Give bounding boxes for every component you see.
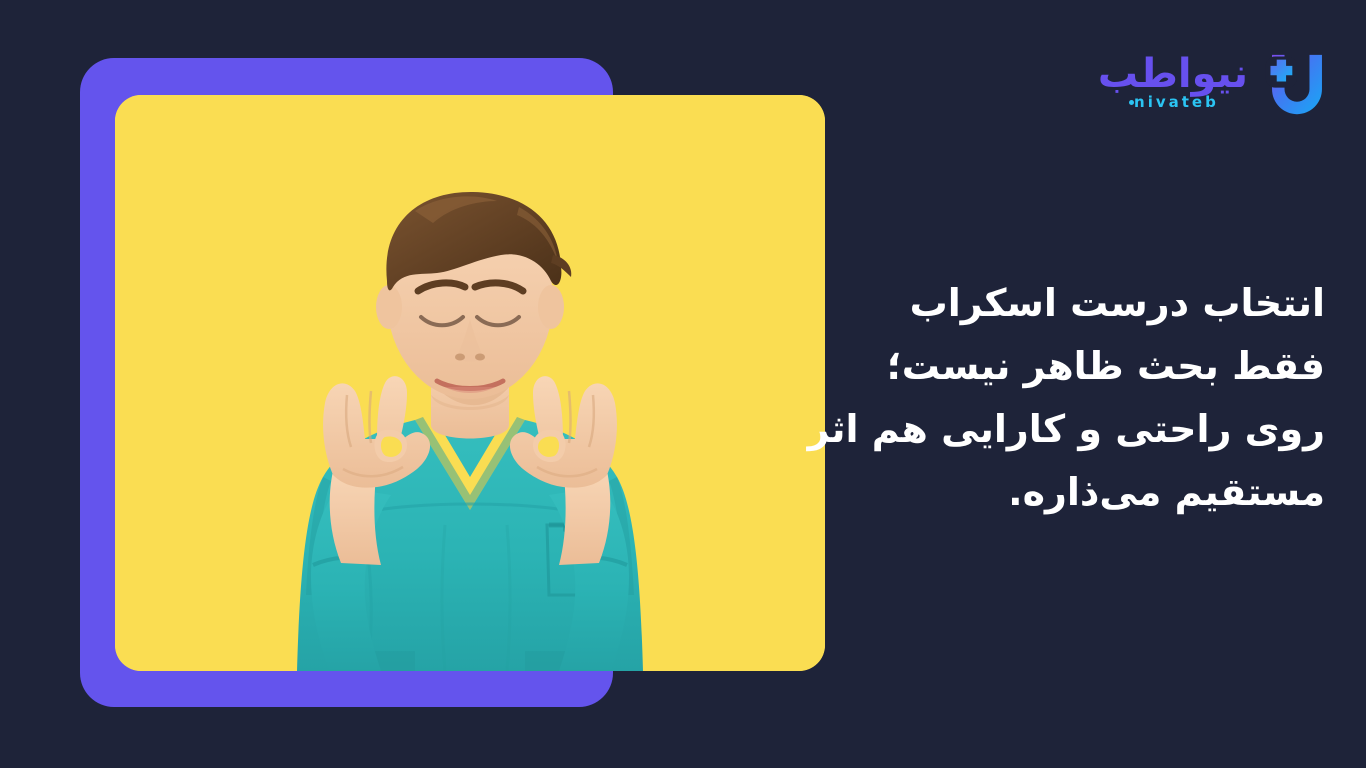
- brand-logo[interactable]: نیواطب nivateb: [1098, 44, 1336, 122]
- logo-mark-icon: [1258, 44, 1336, 122]
- photo-subject-illustration: [115, 95, 825, 671]
- logo-name-en-text: nivateb: [1134, 93, 1219, 111]
- headline-block: انتخاب درست اسکراب فقط بحث ظاهر نیست؛ رو…: [863, 272, 1325, 524]
- headline-line-2: فقط بحث ظاهر نیست؛: [863, 335, 1325, 398]
- headline-line-4: مستقیم می‌ذاره.: [863, 461, 1325, 524]
- photo-card: [115, 95, 825, 671]
- headline-line-1: انتخاب درست اسکراب: [863, 272, 1325, 335]
- logo-name-fa: نیواطب: [1098, 54, 1248, 94]
- headline-line-3: روی راحتی و کارایی هم اثر: [863, 398, 1325, 461]
- logo-name-en: nivateb: [1127, 95, 1219, 110]
- banner-root: نیواطب nivateb: [0, 0, 1366, 768]
- logo-wordmark: نیواطب nivateb: [1098, 54, 1248, 112]
